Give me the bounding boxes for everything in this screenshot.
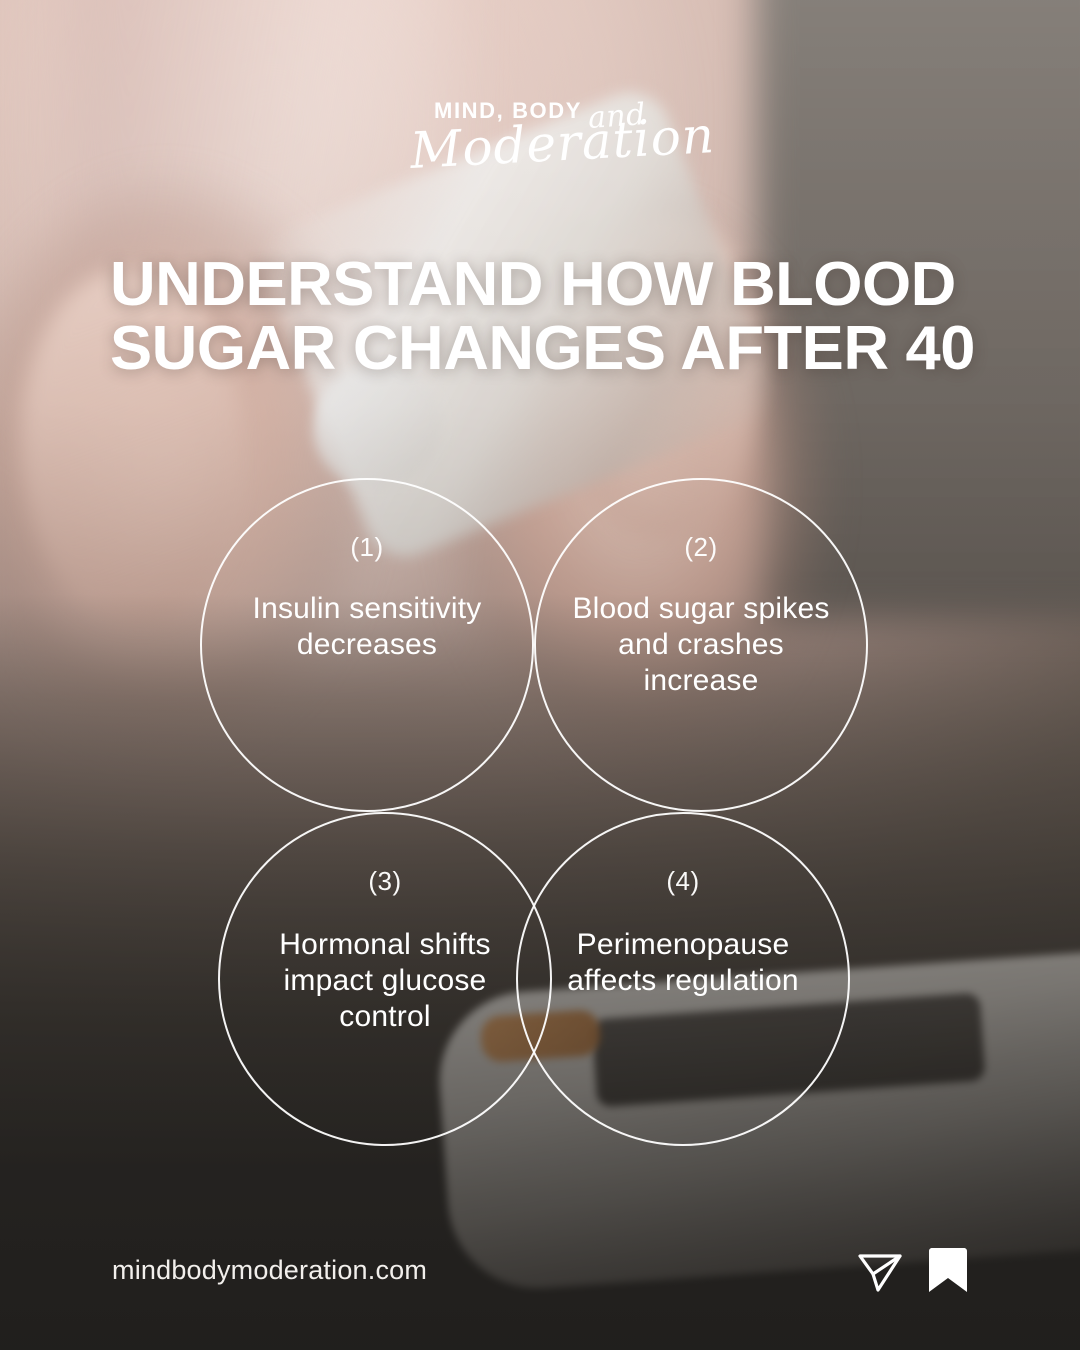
page-title-line-2: SUGAR CHANGES AFTER 40 — [110, 317, 1018, 381]
page-title-line-1: UNDERSTAND HOW BLOOD — [110, 253, 1018, 317]
venn-circle-3: (3) Hormonal shifts impact glucose contr… — [218, 812, 552, 1146]
venn-circle-4-text: Perimenopause affects regulation — [528, 927, 838, 999]
website-url[interactable]: mindbodymoderation.com — [112, 1255, 427, 1286]
venn-circle-1-number: (1) — [350, 532, 383, 563]
venn-diagram: (1) Insulin sensitivity decreases (2) Bl… — [200, 478, 868, 1146]
content-layer: MIND, BODY and Moderation UNDERSTAND HOW… — [0, 0, 1080, 1350]
social-post-graphic: MIND, BODY and Moderation UNDERSTAND HOW… — [0, 0, 1080, 1350]
venn-circle-4: (4) Perimenopause affects regulation — [516, 812, 850, 1146]
bookmark-icon[interactable] — [926, 1246, 970, 1294]
venn-circle-2-text: Blood sugar spikes and crashes increase — [546, 591, 856, 699]
venn-circle-1: (1) Insulin sensitivity decreases — [200, 478, 534, 812]
venn-circle-1-text: Insulin sensitivity decreases — [212, 591, 522, 663]
share-icon[interactable] — [856, 1246, 904, 1294]
venn-circle-3-text: Hormonal shifts impact glucose control — [230, 927, 540, 1035]
page-title: UNDERSTAND HOW BLOOD SUGAR CHANGES AFTER… — [110, 253, 1018, 381]
footer-icon-group — [856, 1246, 970, 1294]
venn-circle-4-number: (4) — [666, 866, 699, 897]
venn-circle-2: (2) Blood sugar spikes and crashes incre… — [534, 478, 868, 812]
venn-circle-3-number: (3) — [368, 866, 401, 897]
brand-name-script: Moderation — [408, 110, 715, 176]
brand-logo: MIND, BODY and Moderation — [0, 92, 1080, 172]
venn-circle-2-number: (2) — [684, 532, 717, 563]
footer: mindbodymoderation.com — [0, 1246, 1080, 1294]
